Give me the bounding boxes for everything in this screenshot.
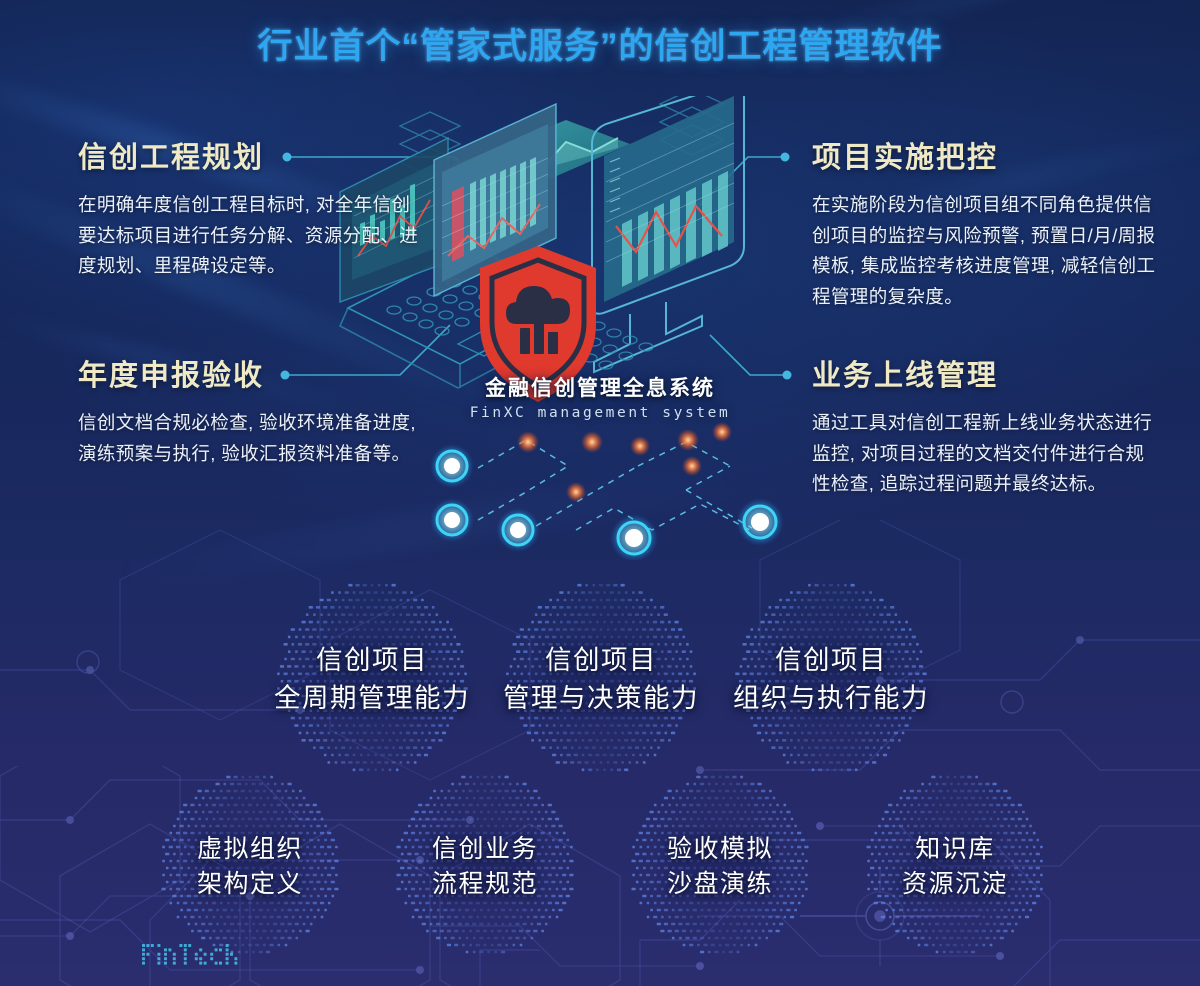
node-network-diagram [400,420,820,560]
capability-sphere-label-2: 信创项目 组织与执行能力 [733,642,929,717]
infographic-canvas: 行业首个“管家式服务”的信创工程管理软件 [0,0,1200,986]
feature-heading-planning: 信创工程规划 [78,134,423,176]
fintech-watermark [140,930,340,980]
page-title: 行业首个“管家式服务”的信创工程管理软件 [0,18,1200,69]
feature-body-planning: 在明确年度信创工程目标时, 对全年信创要达标项目进行任务分解、资源分配、进度规划… [78,190,423,282]
feature-sphere-2: 验收模拟 沙盘演练 [625,772,815,962]
sphere-line2: 架构定义 [197,867,303,903]
glow-node [430,444,784,560]
feature-heading-golive: 业务上线管理 [812,352,1157,394]
feature-sphere-label-2: 验收模拟 沙盘演练 [667,832,773,903]
sphere-line2: 沙盘演练 [667,867,773,903]
feature-heading-execution: 项目实施把控 [812,134,1157,176]
sphere-line1: 信创项目 [503,642,699,680]
capability-sphere-label-1: 信创项目 管理与决策能力 [503,642,699,717]
feature-body-execution: 在实施阶段为信创项目组不同角色提供信创项目的监控与风险预警, 预置日/月/周报模… [812,190,1157,313]
sphere-line1: 信创项目 [274,642,470,680]
feature-sphere-1: 信创业务 流程规范 [390,772,580,962]
shield-cloud-chart-icon [480,246,596,402]
capability-sphere-2: 信创项目 组织与执行能力 [731,580,931,780]
capability-sphere-label-0: 信创项目 全周期管理能力 [274,642,470,717]
sphere-line2: 管理与决策能力 [503,680,699,718]
capability-sphere-1: 信创项目 管理与决策能力 [501,580,701,780]
sphere-line2: 流程规范 [432,867,538,903]
feature-sphere-label-1: 信创业务 流程规范 [432,832,538,903]
desktop-monitor-illustration [592,96,744,372]
capability-sphere-0: 信创项目 全周期管理能力 [272,580,472,780]
sphere-line2: 组织与执行能力 [733,680,929,718]
sphere-line1: 虚拟组织 [197,832,303,868]
sphere-line2: 资源沉淀 [902,867,1008,903]
feature-body-golive: 通过工具对信创工程新上线业务状态进行监控, 对项目过程的文档交付件进行合规性检查… [812,408,1157,500]
sphere-line1: 知识库 [902,832,1008,868]
sphere-line1: 验收模拟 [667,832,773,868]
feature-block-planning: 信创工程规划 在明确年度信创工程目标时, 对全年信创要达标项目进行任务分解、资源… [78,134,423,282]
feature-block-acceptance: 年度申报验收 信创文档合规必检查, 验收环境准备进度, 演练预案与执行, 验收汇… [78,352,423,469]
feature-block-golive: 业务上线管理 通过工具对信创工程新上线业务状态进行监控, 对项目过程的文档交付件… [812,352,1157,500]
feature-heading-acceptance: 年度申报验收 [78,352,423,394]
feature-sphere-label-3: 知识库 资源沉淀 [902,832,1008,903]
feature-sphere-label-0: 虚拟组织 架构定义 [197,832,303,903]
sphere-line1: 信创项目 [733,642,929,680]
sphere-line1: 信创业务 [432,832,538,868]
feature-sphere-3: 知识库 资源沉淀 [860,772,1050,962]
sphere-line2: 全周期管理能力 [274,680,470,718]
feature-body-acceptance: 信创文档合规必检查, 验收环境准备进度, 演练预案与执行, 验收汇报资料准备等。 [78,408,423,469]
feature-block-execution: 项目实施把控 在实施阶段为信创项目组不同角色提供信创项目的监控与风险预警, 预置… [812,134,1157,313]
